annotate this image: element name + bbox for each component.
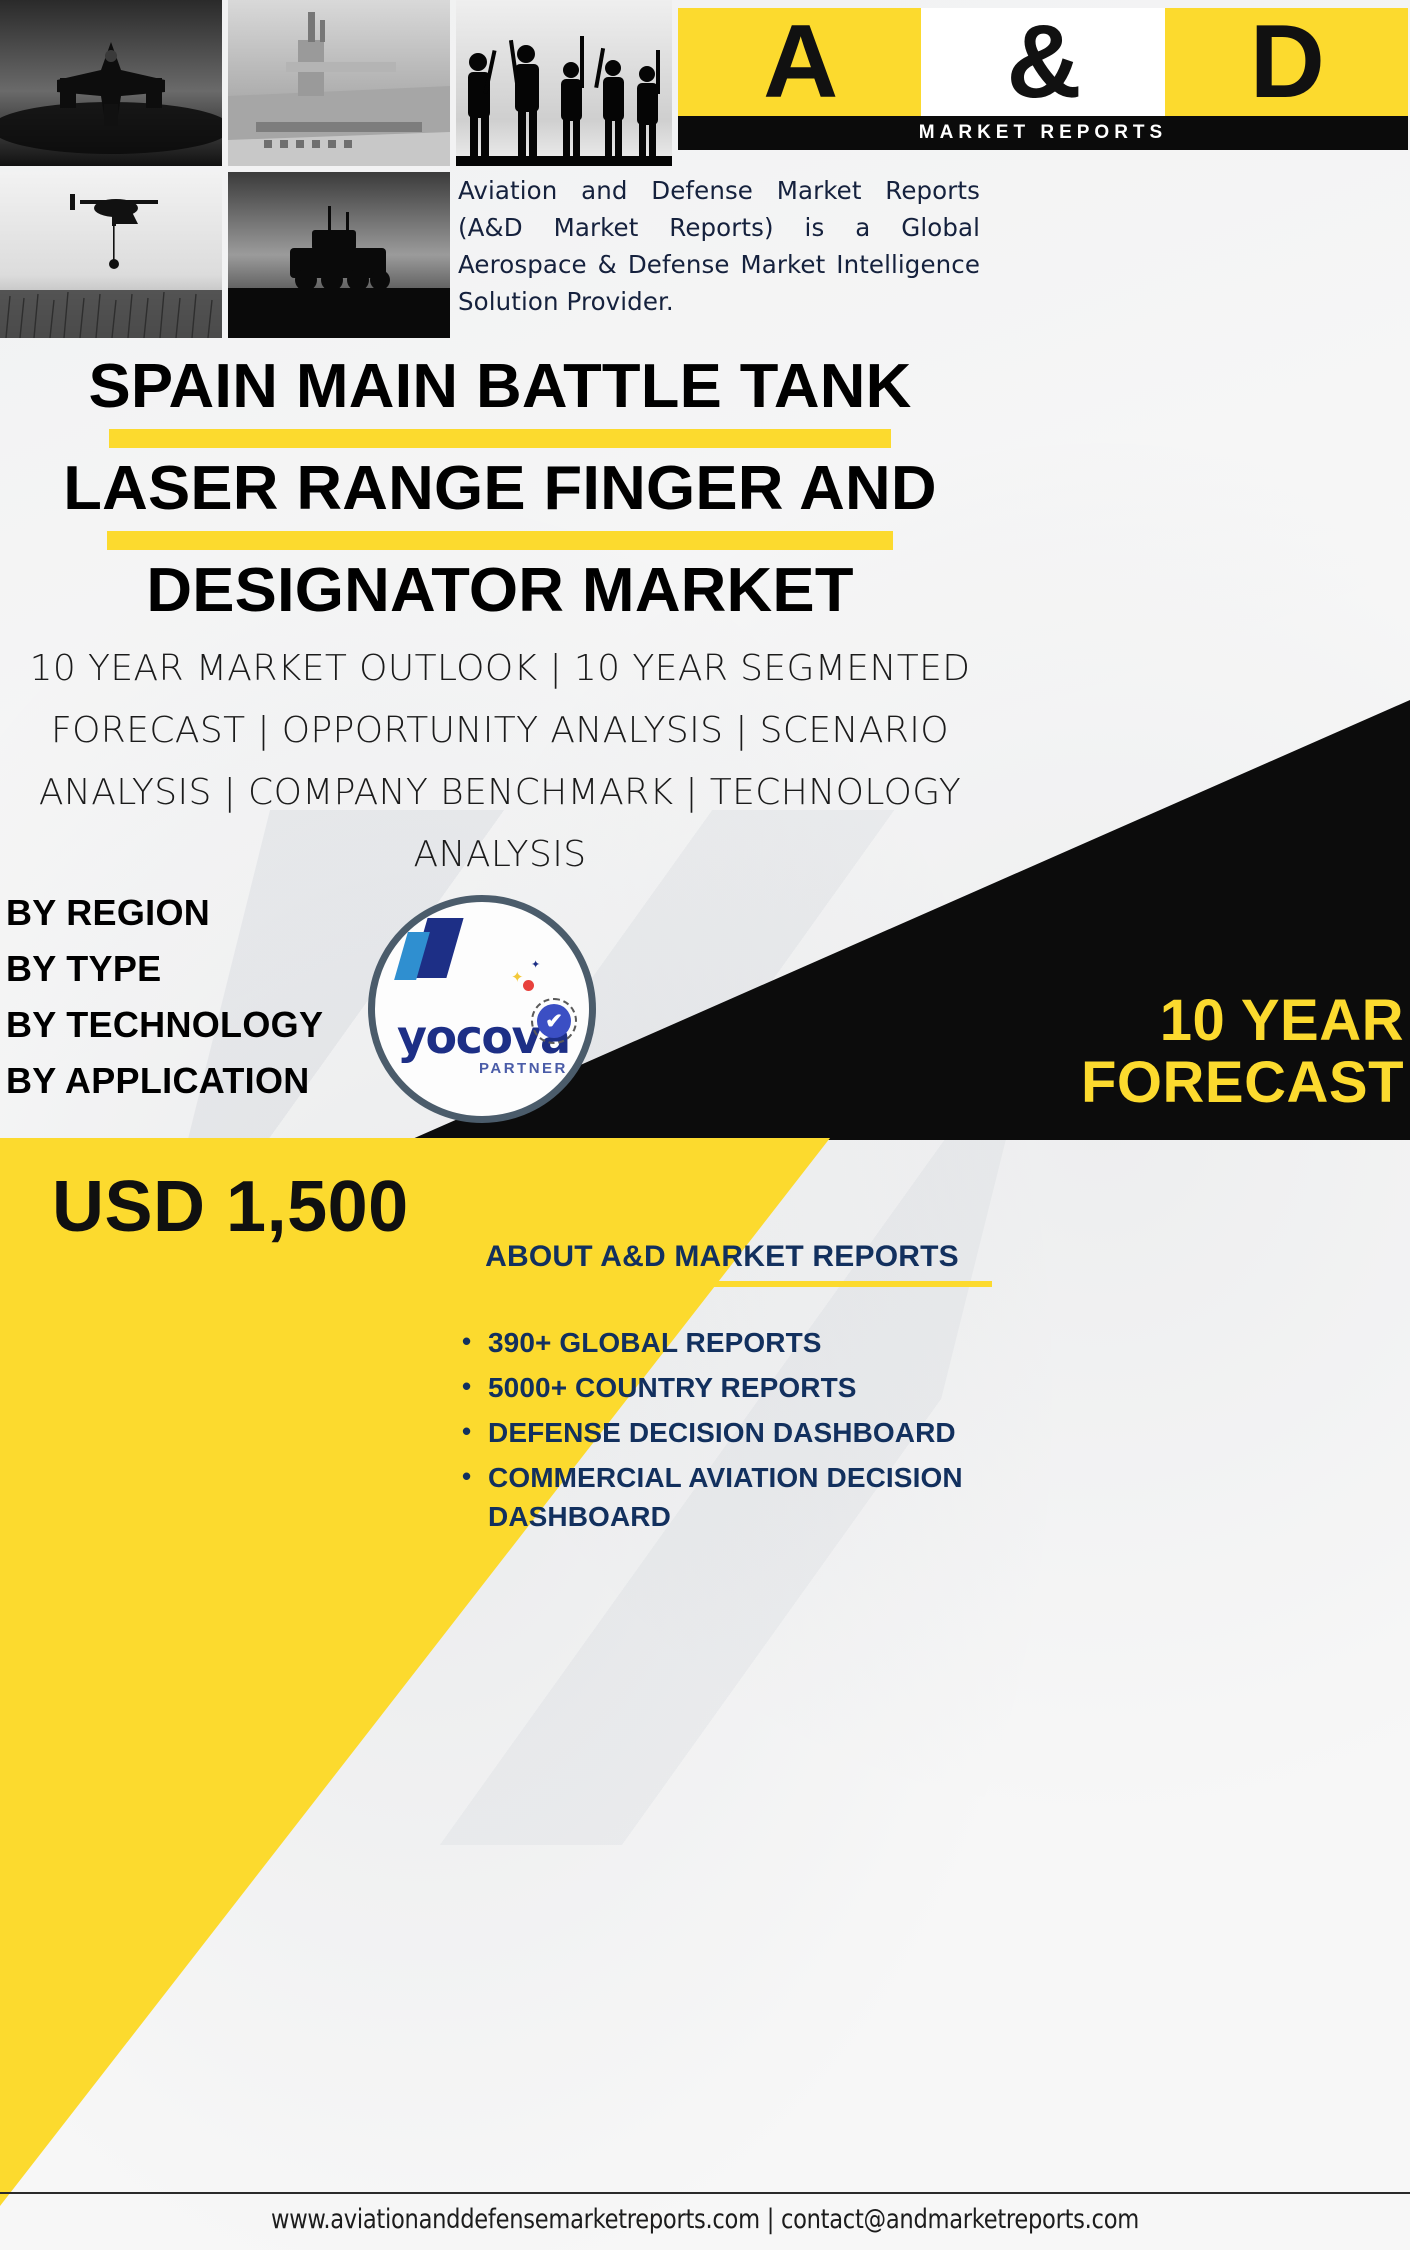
list-item: DEFENSE DECISION DASHBOARD bbox=[452, 1413, 992, 1452]
headline-line-1: SPAIN MAIN BATTLE TANK bbox=[0, 352, 1010, 422]
list-item: 5000+ COUNTRY REPORTS bbox=[452, 1368, 992, 1407]
logo-letter-tiles: A & D bbox=[678, 8, 1408, 116]
footer-divider bbox=[0, 2192, 1410, 2194]
red-dot-icon bbox=[523, 980, 534, 991]
about-title-underline bbox=[452, 1281, 992, 1287]
yellow-sparkle-icon: ✦ bbox=[511, 970, 524, 985]
segmentation-list: BY REGION BY TYPE BY TECHNOLOGY BY APPLI… bbox=[6, 885, 323, 1109]
about-section: ABOUT A&D MARKET REPORTS 390+ GLOBAL REP… bbox=[452, 1238, 992, 1542]
headline-line-2: LASER RANGE FINGER AND bbox=[0, 454, 1010, 524]
forecast-badge-line-2: FORECAST bbox=[1000, 1052, 1404, 1114]
about-title: ABOUT A&D MARKET REPORTS bbox=[452, 1238, 992, 1276]
helicopter-photo bbox=[0, 172, 222, 338]
logo-subtitle-bar: MARKET REPORTS bbox=[678, 116, 1408, 150]
fighter-jet-photo bbox=[0, 0, 222, 166]
headline-rule-2 bbox=[107, 531, 893, 550]
segmentation-item-region: BY REGION bbox=[6, 885, 323, 941]
logo-letter-a: A bbox=[678, 8, 921, 116]
subtitle-text: 10 YEAR MARKET OUTLOOK | 10 YEAR SEGMENT… bbox=[20, 638, 980, 886]
yocova-partner-label: PARTNER bbox=[479, 1060, 568, 1077]
logo-letter-d: D bbox=[1165, 8, 1408, 116]
about-bullet-list: 390+ GLOBAL REPORTS 5000+ COUNTRY REPORT… bbox=[452, 1323, 992, 1536]
segmentation-item-application: BY APPLICATION bbox=[6, 1053, 323, 1109]
forecast-badge: 10 YEAR FORECAST bbox=[1000, 990, 1410, 1114]
poster-root: A & D MARKET REPORTS Aviation and Defens… bbox=[0, 0, 1410, 2250]
price-label: USD 1,500 bbox=[52, 1166, 409, 1248]
soldiers-silhouette-photo bbox=[456, 0, 672, 166]
headline-block: SPAIN MAIN BATTLE TANK LASER RANGE FINGE… bbox=[0, 352, 1000, 626]
footer-contact: www.aviationanddefensemarketreports.com … bbox=[49, 2200, 1360, 2240]
list-item: COMMERCIAL AVIATION DECISION DASHBOARD bbox=[452, 1458, 992, 1536]
segmentation-item-type: BY TYPE bbox=[6, 941, 323, 997]
logo-letter-ampersand: & bbox=[921, 8, 1164, 116]
aircraft-carrier-photo bbox=[228, 0, 450, 166]
segmentation-item-technology: BY TECHNOLOGY bbox=[6, 997, 323, 1053]
forecast-badge-line-1: 10 YEAR bbox=[1000, 990, 1404, 1052]
logo-subtitle-text: MARKET REPORTS bbox=[919, 122, 1167, 144]
headline-rule-1 bbox=[109, 429, 891, 448]
intro-paragraph: Aviation and Defense Market Reports (A&D… bbox=[458, 172, 980, 320]
verified-check-icon: ✔ bbox=[537, 1004, 571, 1038]
list-item: 390+ GLOBAL REPORTS bbox=[452, 1323, 992, 1362]
headline-line-3: DESIGNATOR MARKET bbox=[0, 556, 1010, 626]
armored-vehicle-photo bbox=[228, 172, 450, 338]
navy-sparkle-icon: ✦ bbox=[531, 960, 540, 971]
yocova-partner-badge: ✦ ✦ yocova PARTNER ✔ bbox=[368, 895, 596, 1123]
verified-seal-icon: ✔ bbox=[531, 998, 577, 1044]
brand-logo: A & D MARKET REPORTS bbox=[678, 2, 1408, 150]
